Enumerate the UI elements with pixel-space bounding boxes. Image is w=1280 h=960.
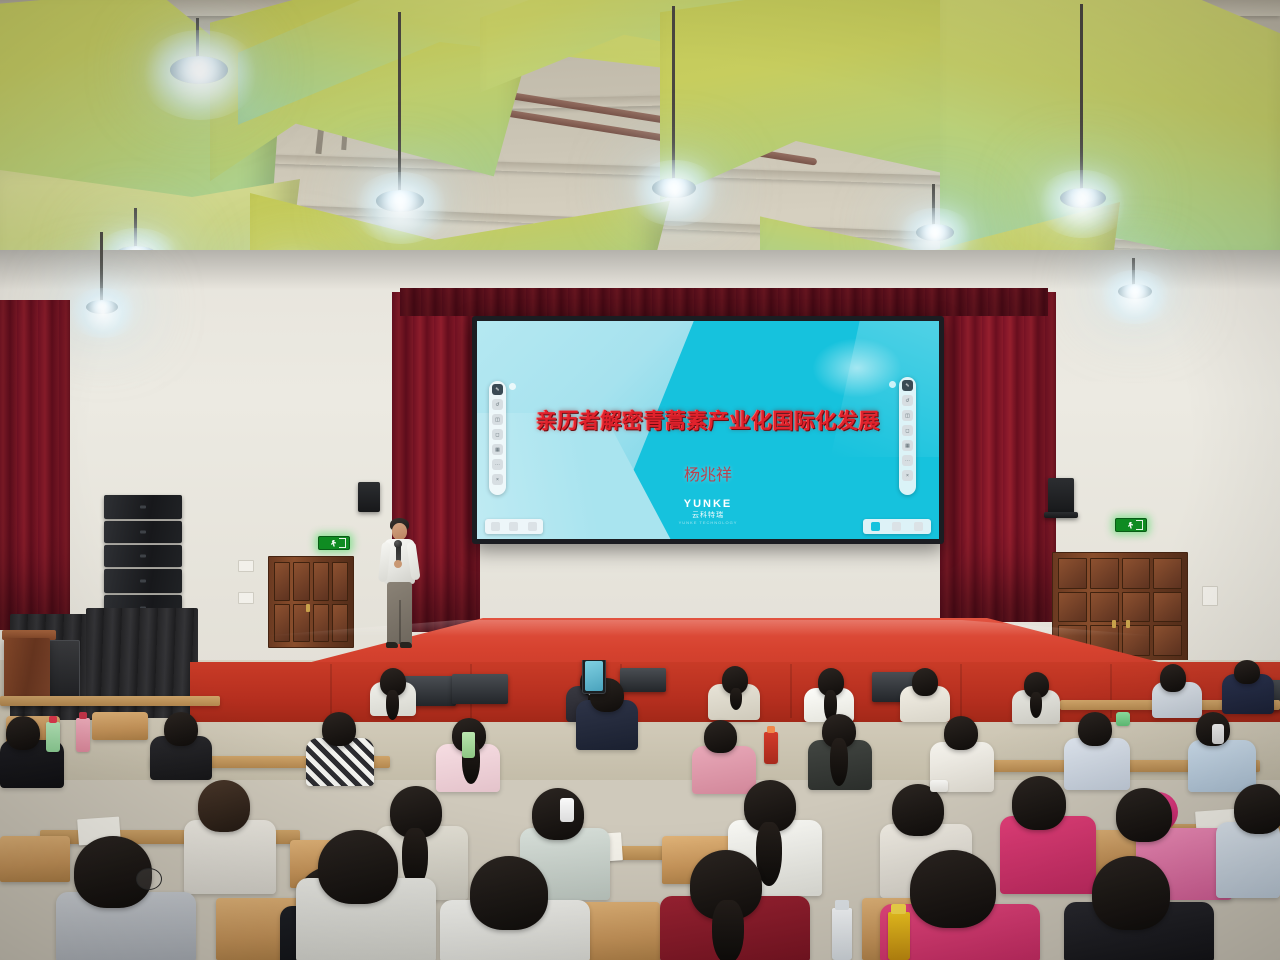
wall-switch-panel[interactable] — [1202, 586, 1218, 606]
taskbar-left[interactable] — [485, 519, 543, 534]
wall-outlet-left[interactable] — [238, 560, 254, 572]
seat — [92, 712, 148, 740]
logo-chinese: 云科特瑞 — [477, 512, 939, 519]
close-icon[interactable]: × — [492, 474, 503, 485]
bottle-cap — [79, 712, 87, 719]
hair-clip — [560, 798, 574, 822]
stage-curtain-far-left — [0, 300, 70, 630]
undo-icon[interactable]: ↺ — [902, 395, 913, 406]
pen-icon[interactable]: ✎ — [492, 384, 503, 395]
audience-head — [1092, 856, 1170, 930]
audience-head — [910, 850, 996, 928]
audience-head — [532, 788, 584, 840]
smartphone[interactable] — [582, 660, 606, 694]
undo-icon[interactable]: ↺ — [492, 399, 503, 410]
led-screen[interactable]: 亲历者解密青蒿素产业化国际化发展 杨兆祥 YUNKE 云科特瑞 YUNKE TE… — [472, 316, 944, 544]
wall-speaker-right-bracket — [1044, 512, 1078, 518]
water-bottle[interactable] — [462, 732, 475, 758]
pendant-light — [652, 178, 696, 198]
taskbar-right[interactable] — [863, 519, 931, 534]
annotation-toolbar-left[interactable]: ✎ ↺ ◫ ◻ ▦ ⋯ × — [489, 381, 506, 495]
door-panel — [1090, 592, 1119, 623]
door-handle-right[interactable] — [1112, 620, 1116, 628]
more-icon[interactable]: ⋯ — [492, 459, 503, 470]
eraser-icon[interactable]: ◫ — [492, 414, 503, 425]
audience-head — [1012, 776, 1066, 830]
door-panel — [1153, 558, 1182, 589]
pendant-light — [170, 56, 228, 84]
door-panel — [293, 562, 309, 601]
wall-speaker-right — [1048, 478, 1074, 514]
pendant-light — [86, 300, 118, 314]
wall-outlet-left-2[interactable] — [238, 592, 254, 604]
pendant-light — [376, 190, 424, 212]
microphone-head — [394, 540, 402, 548]
water-bottle[interactable] — [76, 718, 90, 752]
ponytail — [386, 690, 399, 720]
exit-sign-right — [1115, 518, 1147, 532]
door-panel — [274, 604, 290, 643]
audience-torso — [692, 746, 756, 794]
audience-head — [1160, 664, 1186, 692]
shapes-icon[interactable]: ◻ — [902, 425, 913, 436]
active-tab-icon[interactable] — [871, 522, 880, 531]
audience-torso — [1188, 740, 1256, 792]
door-panel — [1122, 558, 1151, 589]
slide-title: 亲历者解密青蒿素产业化国际化发展 — [477, 405, 939, 435]
bottle-cap — [835, 900, 849, 910]
wall-speaker-center — [358, 482, 380, 512]
water-bottle[interactable] — [832, 908, 852, 960]
presenter — [376, 518, 422, 654]
door-panel — [274, 562, 290, 601]
annotation-toolbar-right[interactable]: ✎ ↺ ◫ ◻ ▦ ⋯ × — [899, 377, 916, 495]
door-panel — [313, 562, 329, 601]
door-panel — [1090, 558, 1119, 589]
ponytail — [730, 688, 742, 710]
audience-head — [1116, 788, 1172, 842]
bottle-cap — [49, 716, 57, 723]
audience-head — [1234, 660, 1260, 684]
pen-icon[interactable]: ✎ — [902, 380, 913, 391]
audience-torso — [1216, 822, 1280, 898]
cup[interactable] — [1116, 712, 1130, 726]
door-panel — [1058, 592, 1087, 623]
audience-head — [6, 716, 40, 750]
back-icon[interactable] — [491, 522, 500, 531]
ponytail — [712, 900, 744, 960]
door-panel — [1122, 592, 1151, 623]
slide-author: 杨兆祥 — [477, 461, 939, 485]
menu-icon[interactable] — [528, 522, 537, 531]
close-icon[interactable]: × — [902, 470, 913, 481]
door-panel — [313, 604, 329, 643]
audience-head — [1078, 712, 1112, 746]
seat — [0, 836, 70, 882]
eraser-icon[interactable]: ◫ — [902, 410, 913, 421]
lecture-hall-photo: 亲历者解密青蒿素产业化国际化发展 杨兆祥 YUNKE 云科特瑞 YUNKE TE… — [0, 0, 1280, 960]
door-panel — [332, 604, 348, 643]
ponytail — [830, 738, 848, 786]
line-array-speakers — [104, 495, 182, 623]
door-panel — [1122, 625, 1151, 656]
presenter-hand — [394, 560, 402, 568]
water-bottle[interactable] — [888, 912, 910, 960]
door-panel — [1153, 592, 1182, 623]
grid-icon[interactable]: ▦ — [492, 444, 503, 455]
grid-icon[interactable]: ▦ — [902, 440, 913, 451]
pendant-light — [1118, 284, 1152, 299]
shapes-icon[interactable]: ◻ — [492, 429, 503, 440]
logo-wordmark: YUNKE — [477, 499, 939, 510]
door-panel — [1058, 558, 1087, 589]
water-bottle[interactable] — [764, 732, 778, 764]
audience-head — [1234, 784, 1280, 834]
more-icon[interactable]: ⋯ — [902, 455, 913, 466]
exit-sign-left — [318, 536, 350, 550]
eyeglasses — [136, 868, 162, 890]
ponytail — [1030, 692, 1042, 718]
stage-curtain-right — [940, 292, 1056, 622]
audience — [0, 660, 1280, 960]
bottle-cap — [767, 726, 775, 733]
presenter-shoe — [400, 642, 412, 648]
audience-head — [912, 668, 938, 696]
desk — [0, 696, 220, 706]
audience-head — [164, 712, 198, 746]
door-panel — [1153, 625, 1182, 656]
pendant-light — [1060, 188, 1106, 208]
audience-head — [944, 716, 978, 750]
stage-curtain-header — [400, 288, 1048, 316]
bottle-cap — [891, 904, 906, 914]
audience-head — [704, 720, 737, 753]
pendant-light — [916, 224, 954, 241]
audience-head — [198, 780, 250, 832]
audience-head — [322, 712, 356, 746]
cup[interactable] — [930, 780, 948, 792]
menu-icon[interactable] — [914, 522, 923, 531]
door-handle-right-2[interactable] — [1126, 620, 1130, 628]
audience-head — [470, 856, 548, 930]
door-panel — [332, 562, 348, 601]
hair-clip — [1212, 724, 1224, 744]
presenter-shoe — [386, 642, 398, 648]
audience-head — [318, 830, 398, 904]
home-icon[interactable] — [509, 522, 518, 531]
toolbar-drag-handle-right[interactable] — [889, 381, 896, 388]
presenter-head — [392, 523, 407, 540]
door-handle-left[interactable] — [306, 604, 310, 612]
home-icon[interactable] — [892, 522, 901, 531]
water-bottle[interactable] — [46, 722, 60, 752]
toolbar-drag-handle-left[interactable] — [509, 383, 516, 390]
